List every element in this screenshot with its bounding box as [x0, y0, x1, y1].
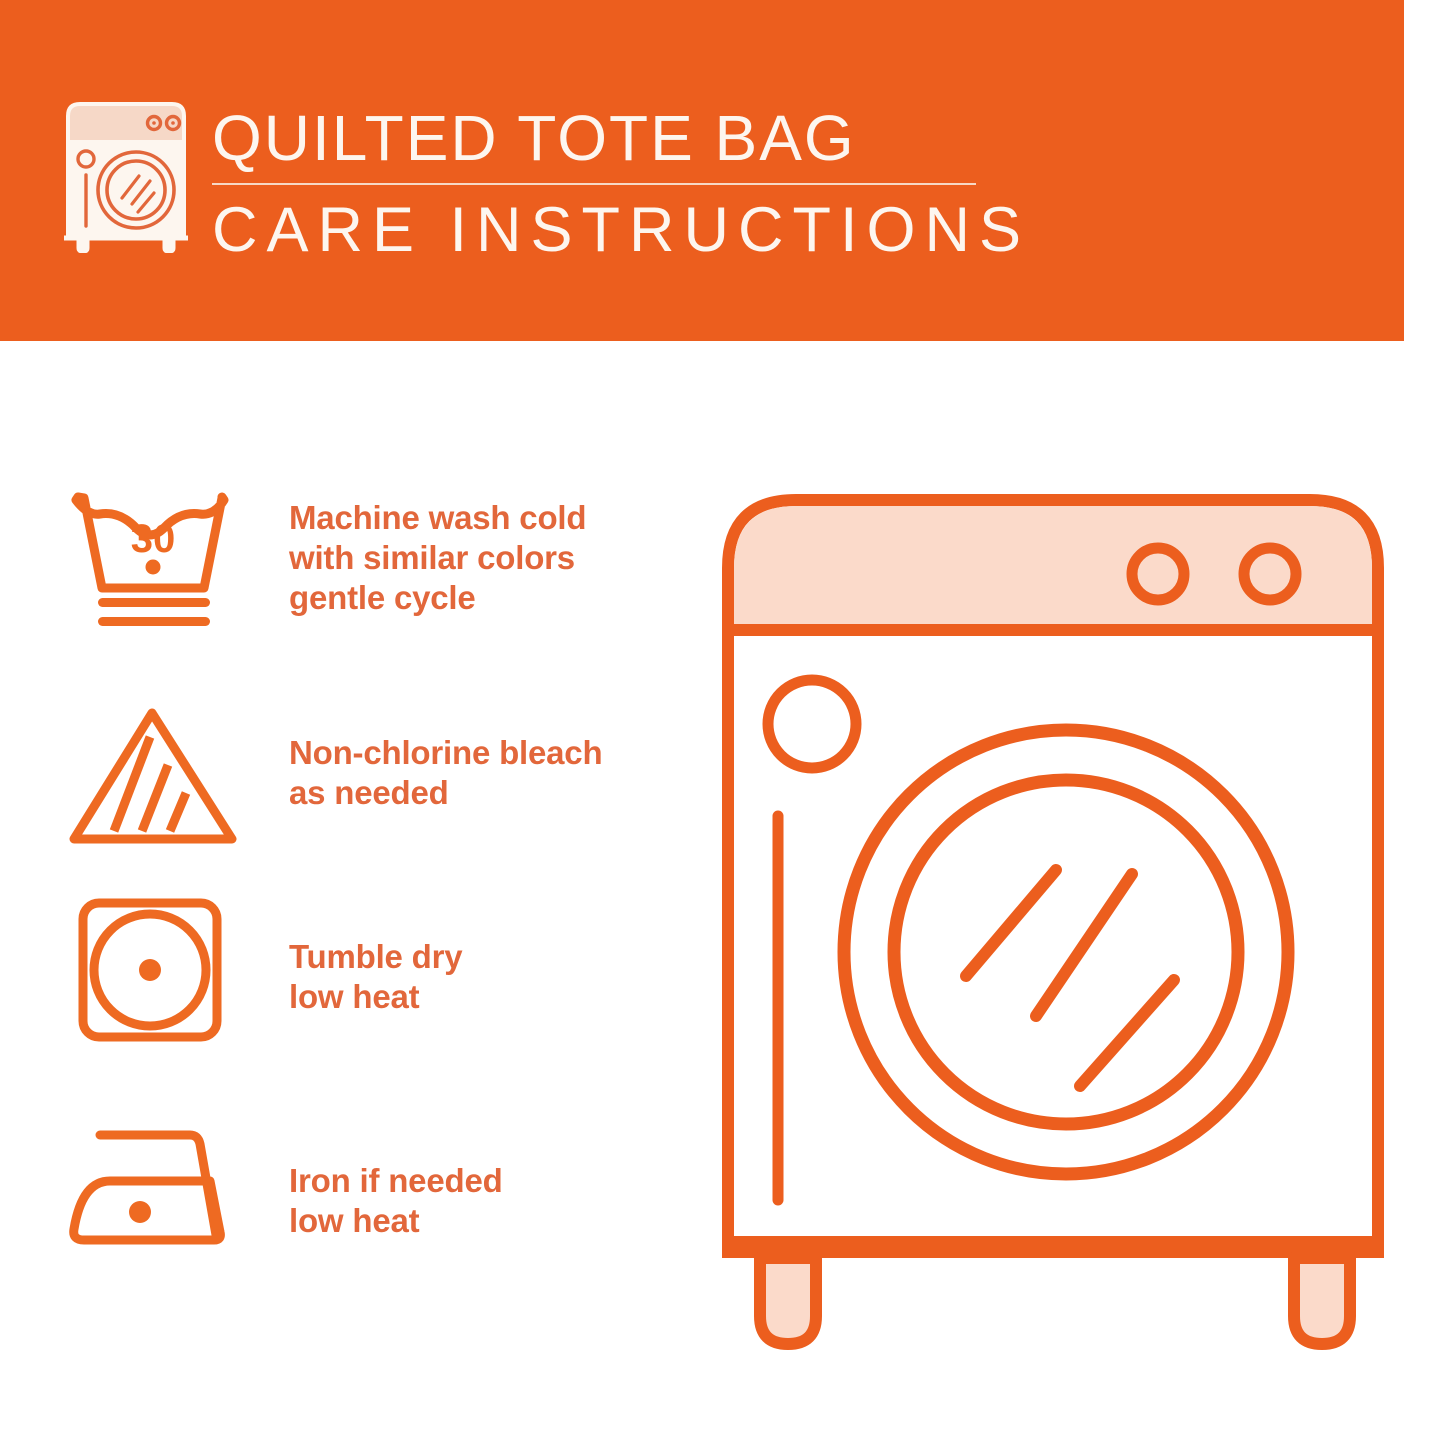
care-label-machine-wash: Machine wash cold with similar colors ge…	[289, 498, 689, 618]
wash-temperature-label: 30	[131, 517, 176, 561]
care-instructions-page: QUILTED TOTE BAG CARE INSTRUCTIONS 30	[0, 0, 1445, 1445]
care-label-iron: Iron if needed low heat	[289, 1161, 689, 1241]
non-chlorine-bleach-triangle-icon	[64, 693, 244, 873]
care-line: Non-chlorine bleach	[289, 733, 689, 773]
care-line: low heat	[289, 1201, 689, 1241]
washer-leg	[1294, 1258, 1350, 1344]
title-divider	[212, 183, 976, 185]
care-row-iron: Iron if needed low heat	[0, 1103, 700, 1314]
header-banner: QUILTED TOTE BAG CARE INSTRUCTIONS	[0, 0, 1404, 341]
care-line: low heat	[289, 977, 689, 1017]
care-line: Tumble dry	[289, 937, 689, 977]
care-line: as needed	[289, 773, 689, 813]
care-line: gentle cycle	[289, 578, 689, 618]
care-line: with similar colors	[289, 538, 689, 578]
care-label-tumble-dry: Tumble dry low heat	[289, 937, 689, 1017]
wash-tub-30-gentle-icon: 30	[64, 470, 244, 650]
washer-leg	[760, 1258, 816, 1344]
iron-low-heat-icon	[64, 1119, 244, 1279]
care-row-tumble-dry: Tumble dry low heat	[0, 892, 700, 1103]
washing-machine-illustration	[718, 478, 1388, 1368]
care-line: Machine wash cold	[289, 498, 689, 538]
care-row-machine-wash: 30 Machine wash cold with similar colors…	[0, 470, 700, 681]
tumble-dry-low-heat-icon	[76, 896, 224, 1044]
header-title-block: QUILTED TOTE BAG CARE INSTRUCTIONS	[212, 100, 1002, 266]
page-title: QUILTED TOTE BAG	[212, 100, 1002, 176]
care-instruction-list: 30 Machine wash cold with similar colors…	[0, 470, 700, 1314]
washing-machine-icon	[60, 98, 192, 253]
care-label-bleach: Non-chlorine bleach as needed	[289, 733, 689, 813]
care-line: Iron if needed	[289, 1161, 689, 1201]
care-row-bleach: Non-chlorine bleach as needed	[0, 681, 700, 892]
page-subtitle: CARE INSTRUCTIONS	[212, 194, 1002, 266]
